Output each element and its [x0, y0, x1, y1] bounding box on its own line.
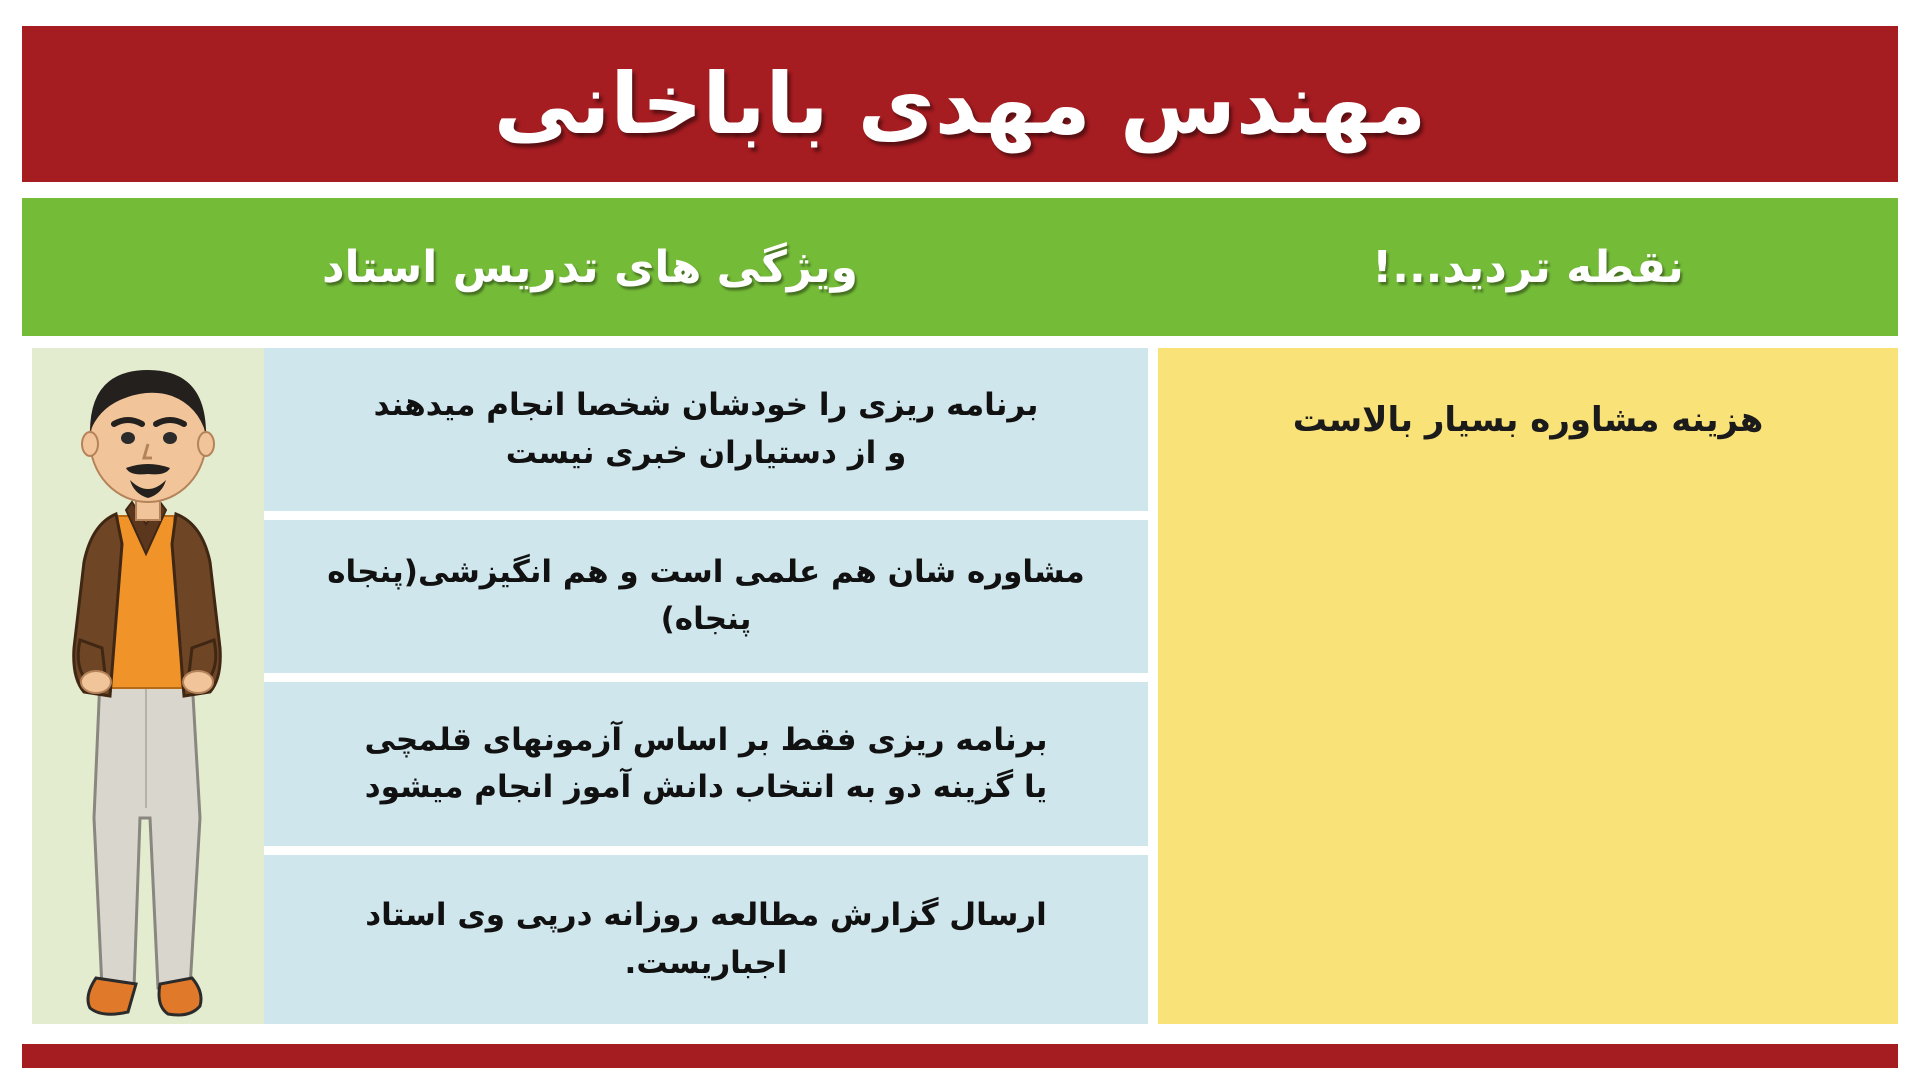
feature-card-text: برنامه ریزی را خودشان شخصا انجام میدهند … — [374, 382, 1039, 476]
feature-card: برنامه ریزی فقط بر اساس آزمونهای قلمچی ی… — [264, 682, 1148, 846]
bottom-accent-bar — [22, 1044, 1898, 1068]
doubt-item-0: هزینه مشاوره بسیار بالاست — [1293, 400, 1764, 1024]
feature-line: یا گزینه دو به انتخاب دانش آموز انجام می… — [364, 764, 1047, 811]
features-column-header: ویژگی های تدریس استاد — [322, 242, 858, 293]
feature-card-text: برنامه ریزی فقط بر اساس آزمونهای قلمچی ی… — [364, 717, 1047, 811]
feature-card: مشاوره شان هم علمی است و هم انگیزشی(پنجا… — [264, 520, 1148, 673]
doubt-column-header: نقطه تردید...! — [1372, 242, 1684, 293]
slide-root: مهندس مهدی باباخانی نقطه تردید...! ویژگی… — [0, 0, 1920, 1080]
feature-line: برنامه ریزی فقط بر اساس آزمونهای قلمچی — [364, 717, 1047, 764]
feature-line: ارسال گزارش مطالعه روزانه درپی وی استاد … — [290, 892, 1122, 986]
feature-card: برنامه ریزی را خودشان شخصا انجام میدهند … — [264, 348, 1148, 511]
title-banner: مهندس مهدی باباخانی — [22, 26, 1898, 182]
panel-divider — [1148, 348, 1158, 1024]
feature-card: ارسال گزارش مطالعه روزانه درپی وی استاد … — [264, 855, 1148, 1024]
feature-line: و از دستیاران خبری نیست — [374, 430, 1039, 477]
comparison-body: هزینه مشاوره بسیار بالاست برنامه ریزی را… — [22, 348, 1898, 1024]
feature-card-text: ارسال گزارش مطالعه روزانه درپی وی استاد … — [290, 892, 1122, 986]
feature-line: برنامه ریزی را خودشان شخصا انجام میدهند — [374, 382, 1039, 429]
header-cell-features: ویژگی های تدریس استاد — [22, 198, 1158, 336]
feature-line: مشاوره شان هم علمی است و هم انگیزشی(پنجا… — [290, 549, 1122, 643]
page-title: مهندس مهدی باباخانی — [494, 60, 1426, 148]
doubt-panel: هزینه مشاوره بسیار بالاست — [1158, 348, 1898, 1024]
header-cell-doubt: نقطه تردید...! — [1158, 198, 1898, 336]
column-headers-bar: نقطه تردید...! ویژگی های تدریس استاد — [22, 198, 1898, 336]
instructor-photo-panel — [32, 348, 264, 1024]
feature-card-text: مشاوره شان هم علمی است و هم انگیزشی(پنجا… — [290, 549, 1122, 643]
features-panel: برنامه ریزی را خودشان شخصا انجام میدهند … — [264, 348, 1148, 1024]
instructor-cartoon-icon — [40, 348, 256, 1024]
